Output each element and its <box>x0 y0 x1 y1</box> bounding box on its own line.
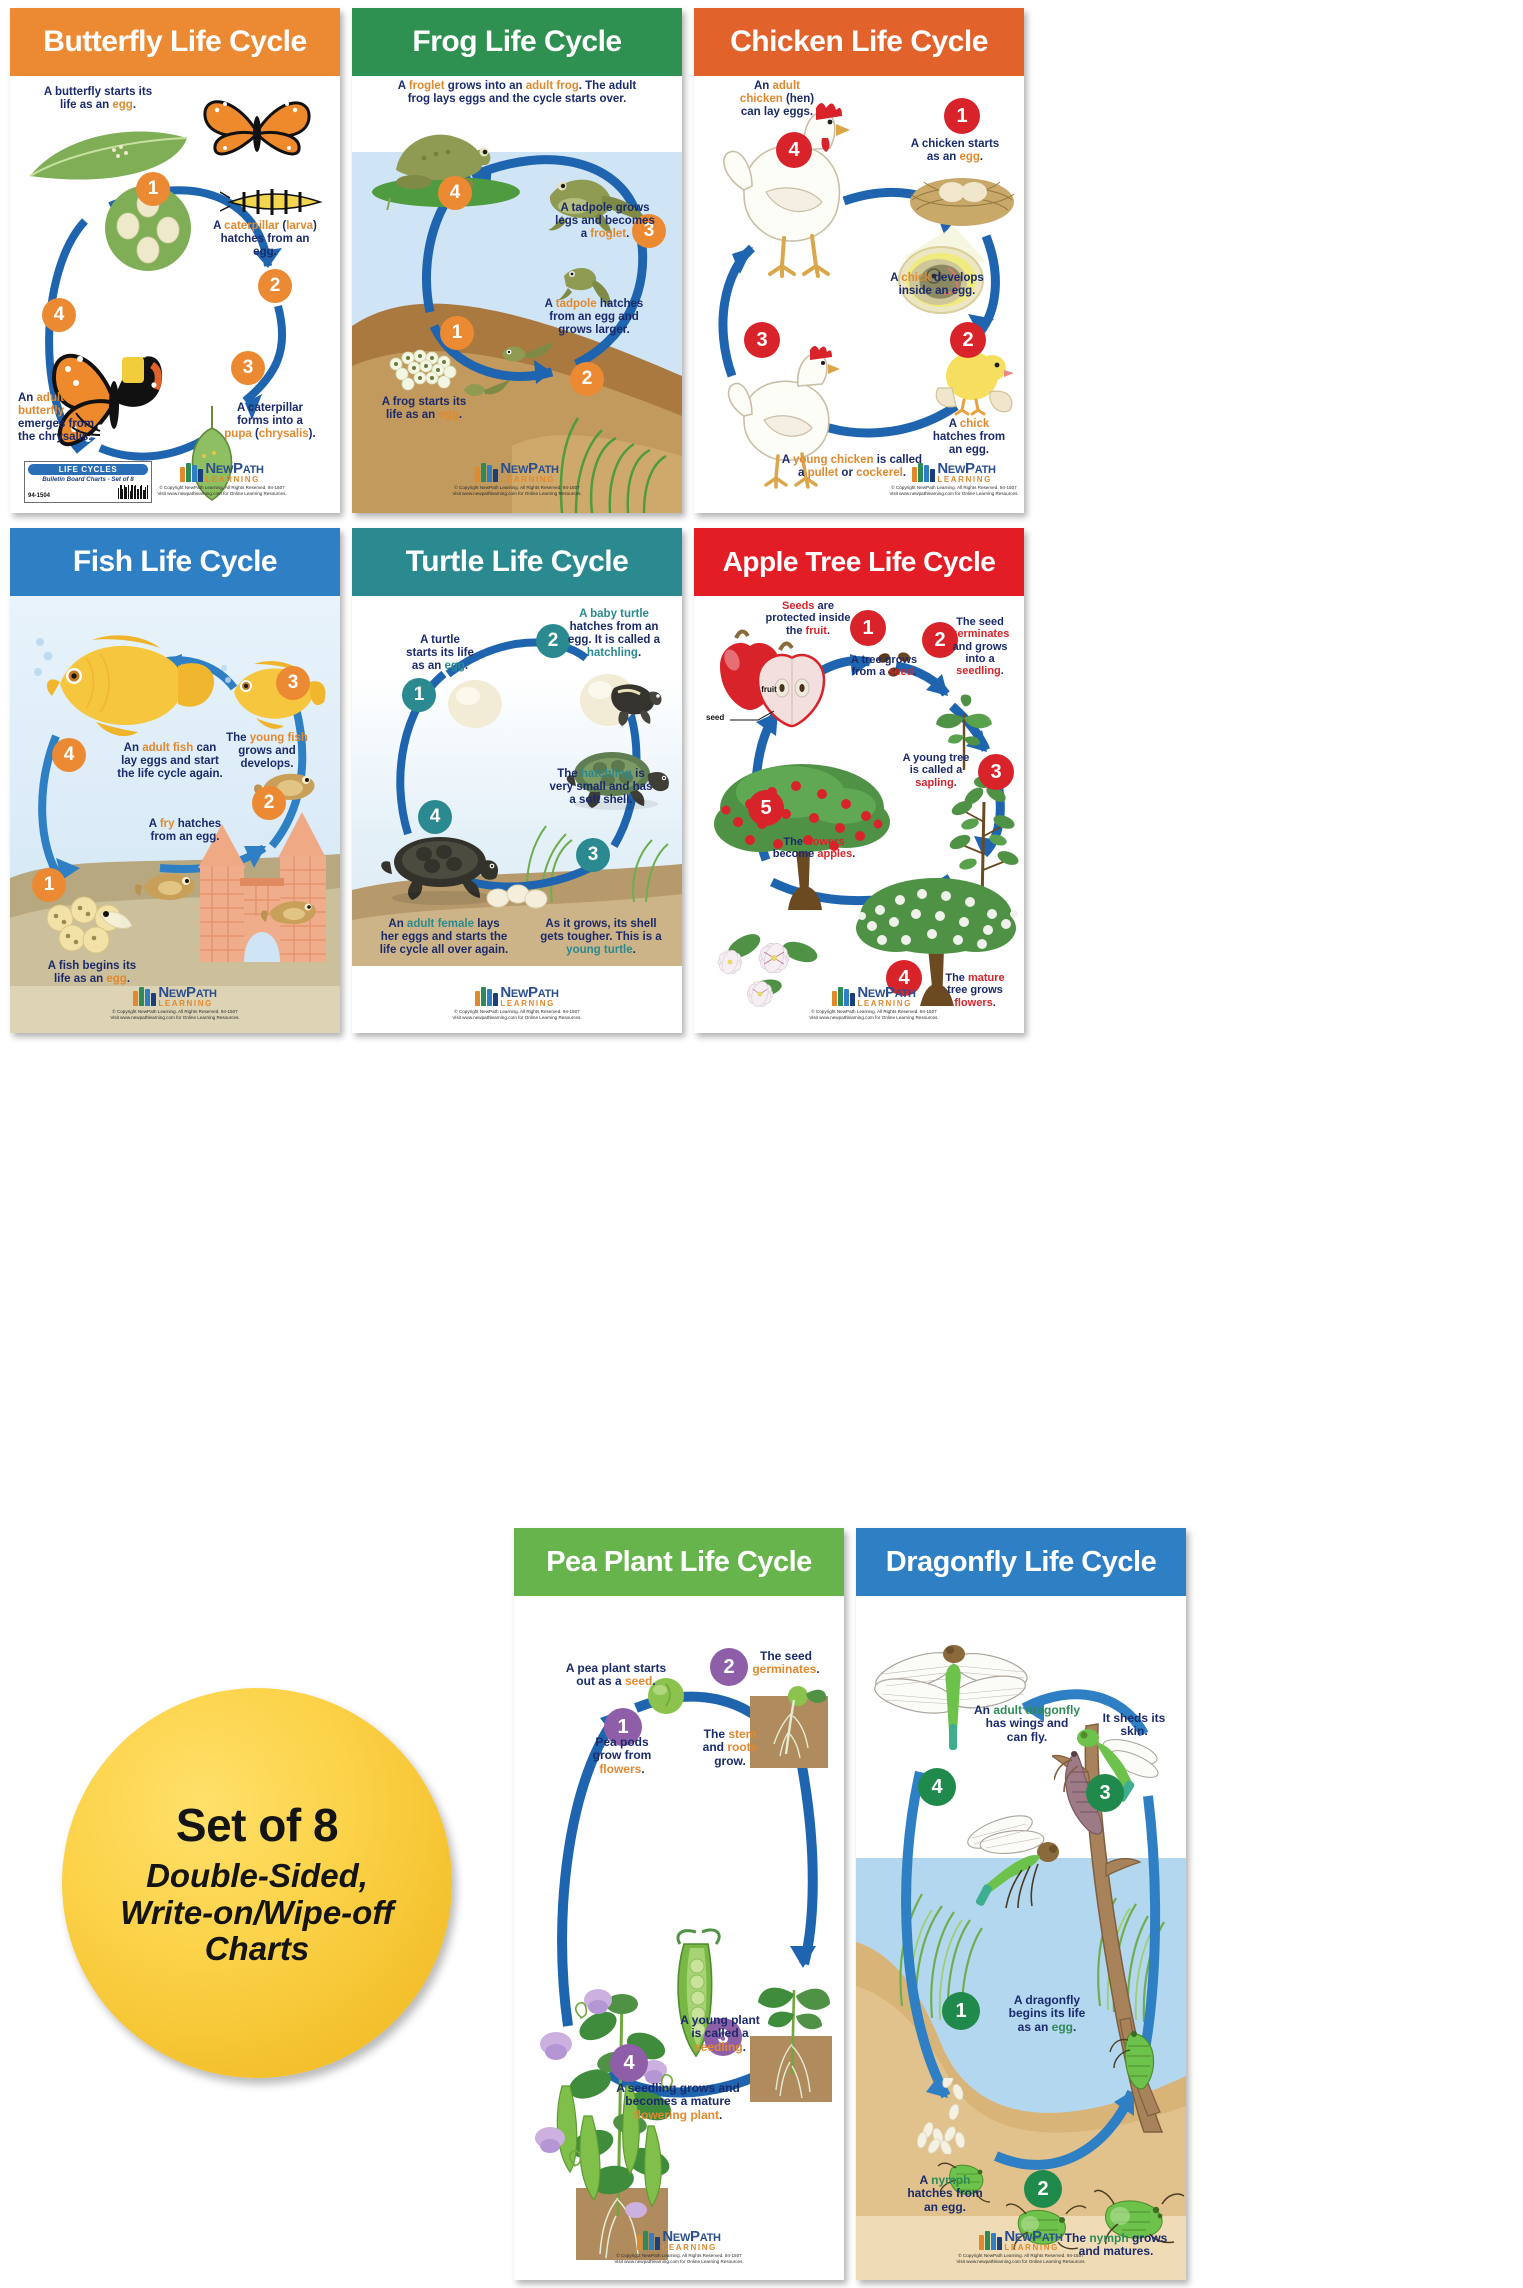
logo-tagline: LEARNING <box>158 1000 216 1007</box>
poster-chicken[interactable]: Chicken Life Cycle <box>694 8 1024 513</box>
step-badge-3: 3 <box>978 754 1014 790</box>
label-seed: seed <box>706 714 746 723</box>
caption-step-2: A baby turtlehatches from anegg. It is c… <box>546 608 682 660</box>
logo-wordmark: NEWPATH <box>205 462 263 476</box>
newpath-logo-block: NEWPATH LEARNING © Copyright NewPath Lea… <box>417 986 617 1022</box>
logo-tagline: LEARNING <box>1004 2244 1062 2251</box>
nest-with-eggs-illustration <box>908 162 1016 228</box>
adult-hen-illustration <box>718 98 868 288</box>
step-badge-2: 2 <box>252 786 286 820</box>
caption-step-3: A young treeis called asapling. <box>892 752 980 789</box>
step-badge-4: 4 <box>918 1768 956 1806</box>
book-icon <box>637 2230 659 2250</box>
logo-wordmark: NEWPATH <box>937 462 995 476</box>
poster-title-turtle: Turtle Life Cycle <box>352 528 682 596</box>
step-badge-2: 2 <box>1024 2170 1062 2208</box>
step-badge-2: 2 <box>570 362 604 396</box>
seal-title: Set of 8 <box>176 1798 338 1852</box>
caption-step-5: An adult female laysher eggs and starts … <box>360 918 528 957</box>
turtle-egg-illustration <box>444 674 506 730</box>
logo-tagline: LEARNING <box>500 476 558 483</box>
book-icon <box>180 462 202 482</box>
logo-website: Visit www.newpathlearning.com for Online… <box>110 1015 239 1021</box>
poster-title-frog: Frog Life Cycle <box>352 8 682 76</box>
seal-subtitle: Double-Sided,Write-on/Wipe-offCharts <box>120 1858 393 1969</box>
sku-number: 94-1504 <box>28 493 50 499</box>
poster-body-chicken: 1 2 3 4 An adultchicken (hen)can lay egg… <box>694 76 1024 513</box>
label-fruit: fruit <box>754 686 784 695</box>
step-badge-4: 4 <box>610 2044 648 2082</box>
caption-step-3: It sheds itsskin. <box>1084 1712 1184 1739</box>
logo-website: Visit www.newpathlearning.com for Online… <box>452 1015 581 1021</box>
logo-website: Visit www.newpathlearning.com for Online… <box>614 2259 743 2265</box>
caption-step-4: An adultchicken (hen)can lay eggs. <box>714 80 840 119</box>
step-badge-4: 4 <box>52 738 86 772</box>
dragonfly-eggs-illustration <box>908 2078 994 2154</box>
step-badge-4: 4 <box>776 132 812 168</box>
caption-step-4: A seedling grows andbecomes a matureflow… <box>580 2082 776 2122</box>
caption-step-5: The flowersbecome apples. <box>752 836 876 861</box>
logo-wordmark: NEWPATH <box>857 986 915 1000</box>
poster-frog[interactable]: Frog Life Cycle <box>352 8 682 513</box>
title-text: Chicken Life Cycle <box>730 27 988 57</box>
fry-illustration-3 <box>258 892 328 932</box>
caption-step-3: A young plantis called aseedling. <box>656 2014 784 2054</box>
caption-step-1: A chicken startsas an egg. <box>890 138 1020 164</box>
poster-body-fish: 3 2 1 4 An adult fish canlay eggs and st… <box>10 596 340 1033</box>
poster-body-turtle: 1 2 3 4 A turtlestarts its lifeas an egg… <box>352 596 682 1033</box>
logo-tagline: LEARNING <box>857 1000 915 1007</box>
young-fish-illustration <box>218 652 328 730</box>
poster-body-frog: 1 2 3 4 A froglet grows into an adult fr… <box>352 76 682 513</box>
title-text: Apple Tree Life Cycle <box>723 548 996 576</box>
poster-body-dragonfly: 4 3 1 2 An adult dragonflyhas wings andc… <box>856 1596 1186 2280</box>
step-badge-1: 1 <box>136 172 170 206</box>
poster-title-pea-plant: Pea Plant Life Cycle <box>514 1528 844 1596</box>
poster-body-pea-plant: 1 2 3 4 A pea plant startsout as a seed.… <box>514 1596 844 2280</box>
step-badge-4: 4 <box>418 800 452 834</box>
poster-apple-tree[interactable]: Apple Tree Life Cycle <box>694 528 1024 1033</box>
newpath-logo-block: NEWPATH LEARNING © Copyright NewPath Lea… <box>75 986 275 1022</box>
caption-step-1: A fish begins itslife as an egg. <box>22 960 162 986</box>
title-text: Dragonfly Life Cycle <box>886 1548 1156 1577</box>
logo-wordmark: NEWPATH <box>500 986 558 1000</box>
caption-step-1: A butterfly starts itslife as an egg. <box>18 86 178 112</box>
title-text: Turtle Life Cycle <box>406 547 629 577</box>
caterpillar-illustration <box>220 184 328 218</box>
step-badge-1: 1 <box>32 868 66 902</box>
logo-tagline: LEARNING <box>937 476 995 483</box>
newpath-logo-block: NEWPATH LEARNING © Copyright NewPath Lea… <box>774 986 974 1022</box>
hatchling-in-egg-illustration <box>574 658 666 734</box>
step-badge-5: 5 <box>748 790 784 826</box>
book-icon <box>133 986 155 1006</box>
step-badge-1: 1 <box>944 98 980 134</box>
newpath-logo-block: NEWPATH LEARNING © Copyright NewPath Lea… <box>417 462 617 498</box>
poster-title-apple-tree: Apple Tree Life Cycle <box>694 528 1024 596</box>
caption-pods: Pea podsgrow fromflowers. <box>566 1736 678 1776</box>
logo-wordmark: NEWPATH <box>662 2230 720 2244</box>
caption-step-2: A tadpole hatchesfrom an egg andgrows la… <box>524 298 664 337</box>
logo-tagline: LEARNING <box>205 476 263 483</box>
title-text: Fish Life Cycle <box>73 547 277 577</box>
poster-fish[interactable]: Fish Life Cycle <box>10 528 340 1033</box>
caption-stem-roots: The stemand rootsgrow. <box>684 1728 776 1768</box>
step-badge-3: 3 <box>231 351 265 385</box>
title-text: Pea Plant Life Cycle <box>546 1548 812 1577</box>
newpath-logo-block: NEWPATH LEARNING © Copyright NewPath Lea… <box>921 2230 1121 2266</box>
logo-tagline: LEARNING <box>500 1000 558 1007</box>
caption-step-2: A nymphhatches froman egg. <box>880 2174 1010 2214</box>
book-icon <box>979 2230 1001 2250</box>
step-badge-3: 3 <box>1086 1774 1124 1812</box>
step-badge-4: 4 <box>42 298 76 332</box>
adult-fish-illustration <box>30 624 220 744</box>
caption-step-3: A caterpillarforms into apupa (chrysalis… <box>210 402 330 441</box>
step-badge-3: 3 <box>276 666 310 700</box>
title-text: Butterfly Life Cycle <box>43 27 306 57</box>
poster-body-apple-tree: fruit seed <box>694 596 1024 1033</box>
poster-body-butterfly: 1 2 3 4 A butterfly starts itslife as an… <box>10 76 340 513</box>
newpath-logo-block: NEWPATH LEARNING © Copyright NewPath Lea… <box>122 462 322 498</box>
step-badge-2: 2 <box>950 322 986 358</box>
logo-website: Visit www.newpathlearning.com for Online… <box>452 491 581 497</box>
step-badge-3: 3 <box>744 322 780 358</box>
step-badge-2: 2 <box>258 269 292 303</box>
fish-eggs-illustration <box>42 892 146 958</box>
caption-fruit: Seeds areprotected insidethe fruit. <box>740 600 876 637</box>
poster-title-dragonfly: Dragonfly Life Cycle <box>856 1528 1186 1596</box>
poster-set-board: Butterfly Life Cycle <box>0 0 1523 2288</box>
set-of-8-seal: Set of 8 Double-Sided,Write-on/Wipe-offC… <box>62 1688 452 2078</box>
logo-wordmark: NEWPATH <box>500 462 558 476</box>
caption-step-3: The hatchling isvery small and hasa soft… <box>530 768 672 807</box>
poster-title-chicken: Chicken Life Cycle <box>694 8 1024 76</box>
logo-wordmark: NEWPATH <box>158 986 216 1000</box>
caption-step-2: A fry hatchesfrom an egg. <box>120 818 250 844</box>
poster-dragonfly[interactable]: Dragonfly Life Cycle <box>856 1528 1186 2280</box>
step-badge-4: 4 <box>438 176 472 210</box>
logo-website: Visit www.newpathlearning.com for Online… <box>956 2259 1085 2265</box>
book-icon <box>475 986 497 1006</box>
book-icon <box>475 462 497 482</box>
newpath-logo-block: NEWPATH LEARNING © Copyright NewPath Lea… <box>579 2230 779 2266</box>
caption-step-4: A froglet grows into an adult frog. The … <box>362 80 672 106</box>
step-badge-1: 1 <box>942 1992 980 2030</box>
step-badge-1: 1 <box>402 678 436 712</box>
caption-step-1: A dragonflybegins its lifeas an egg. <box>982 1994 1112 2034</box>
poster-title-butterfly: Butterfly Life Cycle <box>10 8 340 76</box>
caption-step-1: A tree growsfrom a seed. <box>828 654 940 679</box>
caption-step-3: The young fishgrows anddevelops. <box>206 732 328 771</box>
caption-step-1: A frog starts itslife as an egg. <box>364 396 484 422</box>
logo-website: Visit www.newpathlearning.com for Online… <box>809 1015 938 1021</box>
poster-butterfly[interactable]: Butterfly Life Cycle <box>10 8 340 513</box>
title-text: Frog Life Cycle <box>412 27 621 57</box>
poster-pea-plant[interactable]: Pea Plant Life Cycle <box>514 1528 844 2280</box>
turtle-nest-eggs-illustration <box>482 880 552 912</box>
logo-website: Visit www.newpathlearning.com for Online… <box>889 491 1018 497</box>
caption-step-4: As it grows, its shellgets tougher. This… <box>530 918 672 957</box>
step-badge-1: 1 <box>440 316 474 350</box>
newpath-logo-block: NEWPATH LEARNING © Copyright NewPath Lea… <box>854 462 1024 498</box>
caption-step-2: A caterpillar (larva)hatches from anegg. <box>200 220 330 259</box>
frog-eggs-illustration <box>382 344 486 404</box>
caption-step-1: A turtlestarts its lifeas an egg. <box>380 634 500 673</box>
caption-step-2: A chickhatches froman egg. <box>916 418 1022 457</box>
book-icon <box>912 462 934 482</box>
logo-website: Visit www.newpathlearning.com for Online… <box>157 491 286 497</box>
poster-turtle[interactable]: Turtle Life Cycle <box>352 528 682 1033</box>
caption-step-3: A tadpole growslegs and becomesa froglet… <box>534 202 676 241</box>
nymph-climbing-illustration <box>1104 2014 1180 2120</box>
logo-tagline: LEARNING <box>662 2244 720 2251</box>
poster-title-fish: Fish Life Cycle <box>10 528 340 596</box>
caption-step-4: An adultbutterflyemerges fromthe chrysal… <box>18 392 138 444</box>
caption-step-2: The seedgerminatesand growsinto aseedlin… <box>936 616 1024 678</box>
caption-step-2: The seedgerminates. <box>730 1650 842 1677</box>
caption-embryo: A chick developsinside an egg. <box>862 272 1012 298</box>
step-badge-3: 3 <box>576 838 610 872</box>
tadpole-illustration <box>496 338 556 372</box>
book-icon <box>832 986 854 1006</box>
adult-butterfly-illustration <box>195 88 320 170</box>
logo-wordmark: NEWPATH <box>1004 2230 1062 2244</box>
caption-step-1: A pea plant startsout as a seed. <box>536 1662 696 1689</box>
